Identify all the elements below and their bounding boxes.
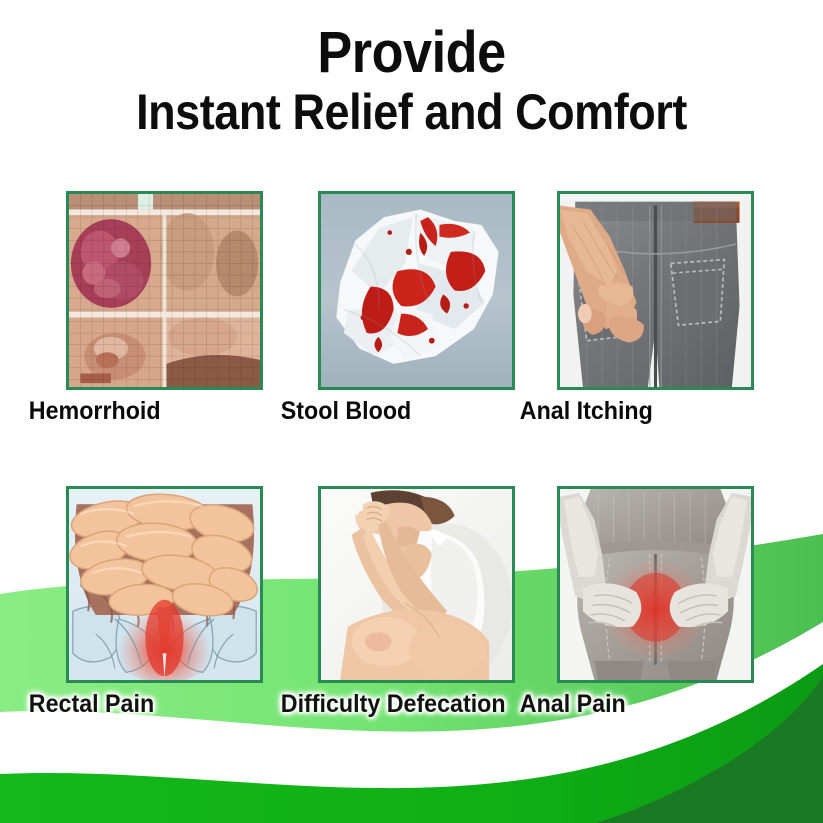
symptom-label: Hemorrhoid [29,396,103,426]
heading-line-2: Instant Relief and Comfort [41,84,782,140]
woman-seated-discomfort-icon [321,489,512,680]
symptom-image-frame [318,191,515,390]
symptom-image-frame [66,191,263,390]
symptom-infographic-poster: Provide Instant Relief and Comfort [0,0,823,823]
symptom-image-frame [557,191,754,390]
bloody-tissue-icon [321,194,512,387]
intestine-anatomy-icon [69,489,260,680]
hands-on-buttocks-icon [560,489,751,680]
heading-line-1: Provide [41,22,782,84]
symptom-label: Anal Pain [520,689,594,719]
clinical-photo-grid-icon [69,194,260,387]
symptom-label: Anal Itching [520,396,594,426]
poster-heading: Provide Instant Relief and Comfort [0,22,823,140]
symptom-image-frame [318,486,515,683]
symptom-label: Rectal Pain [29,689,103,719]
symptom-label: Stool Blood [281,396,355,426]
hand-on-jeans-icon [560,194,751,387]
symptom-image-frame [66,486,263,683]
symptom-image-frame [557,486,754,683]
symptom-label: Difficulty Defecation [281,689,355,719]
